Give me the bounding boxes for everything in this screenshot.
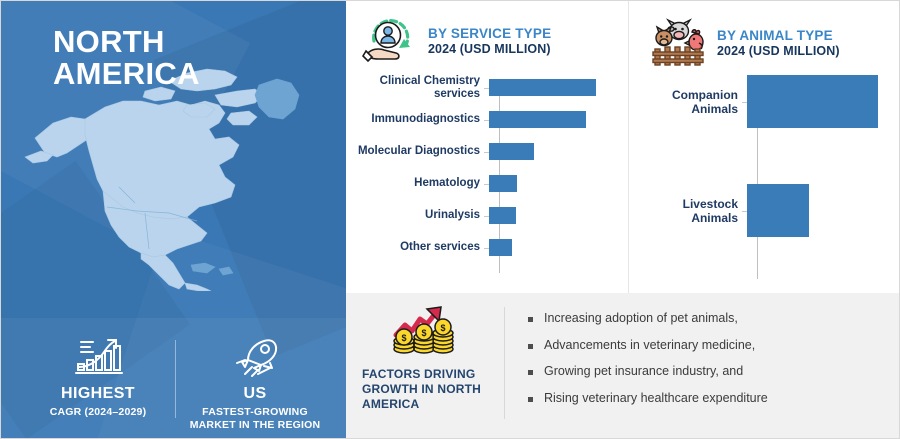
bullet-icon (528, 397, 533, 402)
chart-header: BY SERVICE TYPE 2024 (USD MILLION) (362, 15, 551, 65)
factor-item: Advancements in veterinary medicine, (528, 338, 878, 352)
bullet-icon (528, 370, 533, 375)
farm-animals-icon (651, 17, 707, 67)
bar-row: Immunodiagnostics (356, 111, 618, 128)
bar-row: Companion Animals (639, 75, 894, 128)
bar-label: Molecular Diagnostics (356, 145, 489, 158)
factors-section: $ $ $ (346, 293, 900, 439)
factor-text: Increasing adoption of pet animals, (544, 311, 738, 325)
bar-fill (489, 143, 534, 160)
factor-item: Increasing adoption of pet animals, (528, 311, 878, 325)
stat-subtitle: CAGR (2024–2029) (23, 406, 173, 419)
factors-list: Increasing adoption of pet animals,Advan… (528, 311, 878, 417)
bar-track (489, 79, 618, 96)
bar-track (747, 75, 894, 128)
factor-text: Growing pet insurance industry, and (544, 364, 743, 378)
axis-tick (484, 152, 489, 153)
axis-tick (484, 216, 489, 217)
bar-fill (489, 175, 517, 192)
stat-highest-cagr: HIGHEST CAGR (2024–2029) (23, 332, 173, 419)
bar-label: Livestock Animals (639, 197, 747, 225)
bar-track (489, 175, 618, 192)
bar-track (489, 207, 618, 224)
bar-row: Livestock Animals (639, 184, 894, 237)
bar-label: Hematology (356, 177, 489, 190)
stat-subtitle: FASTEST-GROWING MARKET IN THE REGION (179, 406, 331, 432)
coins-growth-arrow-icon: $ $ $ (362, 303, 490, 361)
bar-fill (747, 184, 809, 237)
region-stats: HIGHEST CAGR (2024–2029) (1, 318, 346, 439)
stat-title: HIGHEST (23, 385, 173, 403)
bar-fill (489, 79, 596, 96)
chart-subtitle: 2024 (USD MILLION) (428, 42, 551, 57)
bar-row: Hematology (356, 175, 618, 192)
animal-type-bars: Companion AnimalsLivestock Animals (639, 75, 894, 283)
stat-fastest-growing: US FASTEST-GROWING MARKET IN THE REGION (179, 332, 331, 432)
charts-row: BY SERVICE TYPE 2024 (USD MILLION) Clini… (346, 1, 900, 293)
rocket-icon (179, 332, 331, 378)
chart-title: BY SERVICE TYPE (428, 26, 551, 41)
svg-text:$: $ (440, 323, 445, 333)
bar-track (747, 184, 894, 237)
bar-row: Molecular Diagnostics (356, 143, 618, 160)
bar-label: Clinical Chemistry services (356, 75, 489, 101)
bar-fill (747, 75, 878, 128)
axis-tick (484, 88, 489, 89)
chart-subtitle: 2024 (USD MILLION) (717, 44, 840, 59)
bar-fill (489, 111, 586, 128)
service-hand-person-icon (362, 15, 418, 65)
chart-header: BY ANIMAL TYPE 2024 (USD MILLION) (651, 17, 840, 67)
bar-label: Companion Animals (639, 88, 747, 116)
bar-row: Other services (356, 239, 618, 256)
bar-label: Urinalysis (356, 209, 489, 222)
bar-label: Other services (356, 241, 489, 254)
bar-track (489, 111, 618, 128)
region-panel: NORTH AMERICA (1, 1, 346, 439)
page-title: NORTH AMERICA (53, 26, 200, 90)
infographic-root: NORTH AMERICA (0, 0, 900, 439)
chart-title: BY ANIMAL TYPE (717, 28, 840, 43)
chart-by-service-type: BY SERVICE TYPE 2024 (USD MILLION) Clini… (346, 1, 628, 293)
factor-text: Advancements in veterinary medicine, (544, 338, 755, 352)
chart-by-animal-type: BY ANIMAL TYPE 2024 (USD MILLION) Compan… (628, 1, 900, 293)
factors-divider (504, 307, 505, 419)
bar-row: Urinalysis (356, 207, 618, 224)
bullet-icon (528, 317, 533, 322)
factors-heading-block: $ $ $ (362, 303, 490, 412)
axis-tick (484, 184, 489, 185)
stat-title: US (179, 385, 331, 403)
bar-fill (489, 207, 516, 224)
stats-divider (175, 340, 176, 418)
service-type-bars: Clinical Chemistry servicesImmunodiagnos… (356, 79, 618, 277)
svg-text:$: $ (421, 328, 426, 338)
bar-label: Immunodiagnostics (356, 113, 489, 126)
bar-fill (489, 239, 512, 256)
growth-chart-icon (23, 332, 173, 378)
factor-item: Rising veterinary healthcare expenditure (528, 391, 878, 405)
axis-tick (742, 102, 747, 103)
bar-track (489, 239, 618, 256)
axis-tick (742, 211, 747, 212)
svg-text:$: $ (401, 333, 406, 343)
bar-row: Clinical Chemistry services (356, 79, 618, 96)
factor-item: Growing pet insurance industry, and (528, 364, 878, 378)
bullet-icon (528, 344, 533, 349)
bar-track (489, 143, 618, 160)
axis-tick (484, 248, 489, 249)
factor-text: Rising veterinary healthcare expenditure (544, 391, 768, 405)
factors-title: FACTORS DRIVING GROWTH IN NORTH AMERICA (362, 367, 490, 412)
axis-tick (484, 120, 489, 121)
north-america-map-icon (19, 61, 331, 291)
